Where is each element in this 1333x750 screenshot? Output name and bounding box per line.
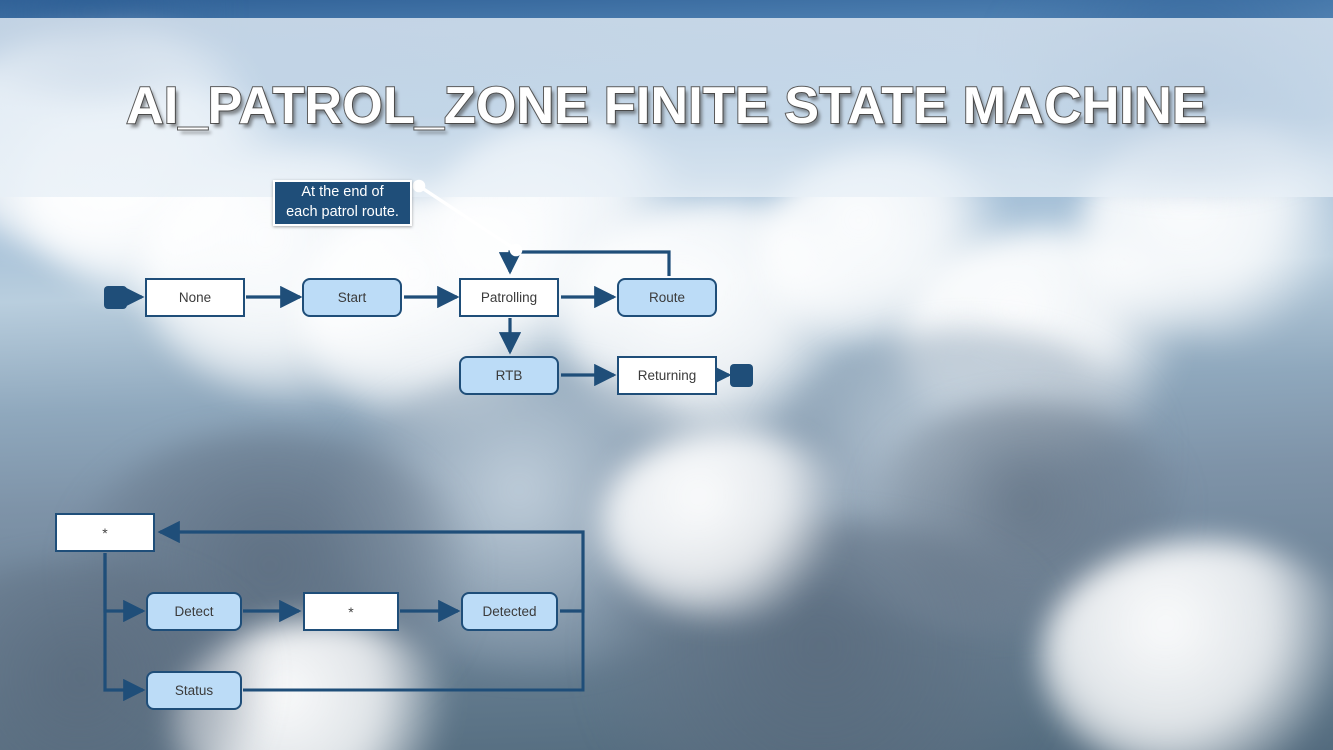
state-node-detected-label: Detected — [482, 604, 536, 619]
state-node-any-2[interactable]: * — [303, 592, 399, 631]
state-node-detect-label: Detect — [174, 604, 213, 619]
state-node-route-label: Route — [649, 290, 685, 305]
state-node-patrolling[interactable]: Patrolling — [459, 278, 559, 317]
state-node-none[interactable]: None — [145, 278, 245, 317]
state-node-detected[interactable]: Detected — [461, 592, 558, 631]
callout-line-2: each patrol route. — [286, 203, 399, 222]
start-terminal-marker — [104, 286, 127, 309]
state-node-any-1-label: * — [102, 525, 107, 541]
callout-line-1: At the end of — [286, 183, 399, 202]
state-node-none-label: None — [179, 290, 211, 305]
state-node-status[interactable]: Status — [146, 671, 242, 710]
state-node-returning[interactable]: Returning — [617, 356, 717, 395]
state-node-rtb[interactable]: RTB — [459, 356, 559, 395]
state-node-patrolling-label: Patrolling — [481, 290, 537, 305]
state-node-start-label: Start — [338, 290, 367, 305]
edge-any1-status — [105, 553, 143, 690]
slide-canvas: AI_PATROL_ZONE FINITE STATE MACHINE — [0, 0, 1333, 750]
state-node-detect[interactable]: Detect — [146, 592, 242, 631]
state-node-route[interactable]: Route — [617, 278, 717, 317]
state-node-returning-label: Returning — [638, 368, 697, 383]
state-node-rtb-label: RTB — [496, 368, 523, 383]
state-node-any-2-label: * — [348, 604, 353, 620]
state-node-status-label: Status — [175, 683, 213, 698]
callout-note: At the end of each patrol route. — [273, 180, 412, 226]
edge-any1-detect — [105, 553, 143, 611]
state-node-any-1[interactable]: * — [55, 513, 155, 552]
callout-leader — [414, 181, 520, 254]
state-node-start[interactable]: Start — [302, 278, 402, 317]
edge-route-patrolling-loop — [510, 252, 669, 276]
end-terminal-marker — [730, 364, 753, 387]
